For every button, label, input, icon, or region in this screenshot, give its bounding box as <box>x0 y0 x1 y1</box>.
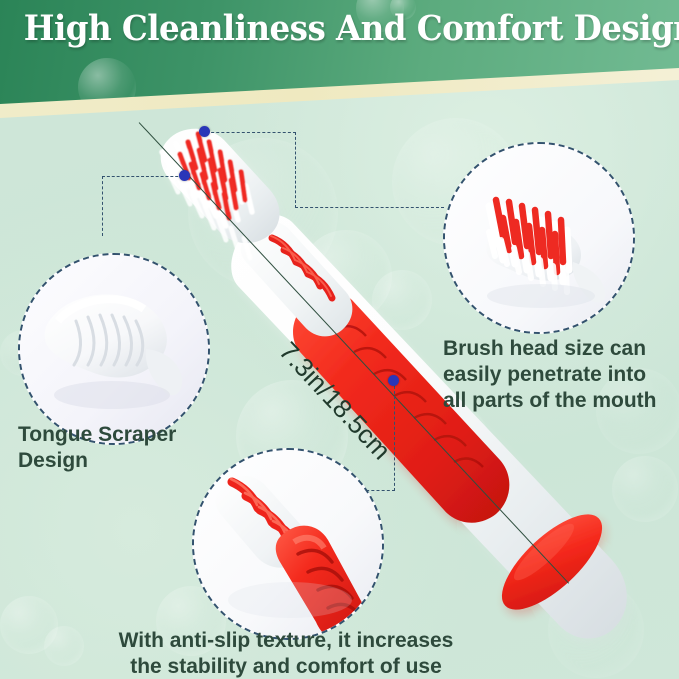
caption-anti-slip-line1: With anti-slip texture, it increases <box>76 628 496 654</box>
caption-anti-slip-line2: the stability and comfort of use <box>76 654 496 679</box>
caption-brush-head-line1: Brush head size can <box>443 336 679 362</box>
callout-brush-head[interactable] <box>443 142 635 334</box>
callout-anti-slip-grip-image <box>194 450 382 638</box>
background-bubble <box>188 138 338 288</box>
caption-tongue-scraper: Tongue Scraper Design <box>18 422 248 474</box>
caption-brush-head-line2: easily penetrate into <box>443 362 679 388</box>
callout-tongue-scraper[interactable] <box>18 253 210 445</box>
connector-anti-slip-vertical <box>394 386 395 491</box>
caption-brush-head-line3: all parts of the mouth <box>443 388 679 414</box>
callout-tongue-scraper-image <box>20 255 208 443</box>
background-bubble <box>612 456 678 522</box>
hotspot-dot-brush-head <box>199 126 210 137</box>
connector-brush-head-horizontal-top <box>206 132 296 133</box>
caption-anti-slip-grip: With anti-slip texture, it increases the… <box>76 628 496 679</box>
callout-anti-slip-grip[interactable] <box>192 448 384 640</box>
connector-tongue-scraper-horizontal <box>102 176 188 177</box>
background-bubble <box>412 404 490 482</box>
caption-brush-head: Brush head size can easily penetrate int… <box>443 336 679 414</box>
connector-brush-head-vertical <box>295 132 296 208</box>
page-title: High Cleanliness And Comfort Design <box>24 6 655 52</box>
background-bubble <box>372 270 432 330</box>
connector-brush-head-horizontal-bottom <box>295 207 444 208</box>
background-bubble <box>548 582 644 678</box>
hotspot-dot-tongue-scraper <box>179 170 190 181</box>
callout-brush-head-image <box>445 144 633 332</box>
hotspot-dot-anti-slip <box>388 375 399 386</box>
product-infographic: High Cleanliness And Comfort Design <box>0 0 679 679</box>
connector-tongue-scraper-vertical <box>102 176 103 236</box>
